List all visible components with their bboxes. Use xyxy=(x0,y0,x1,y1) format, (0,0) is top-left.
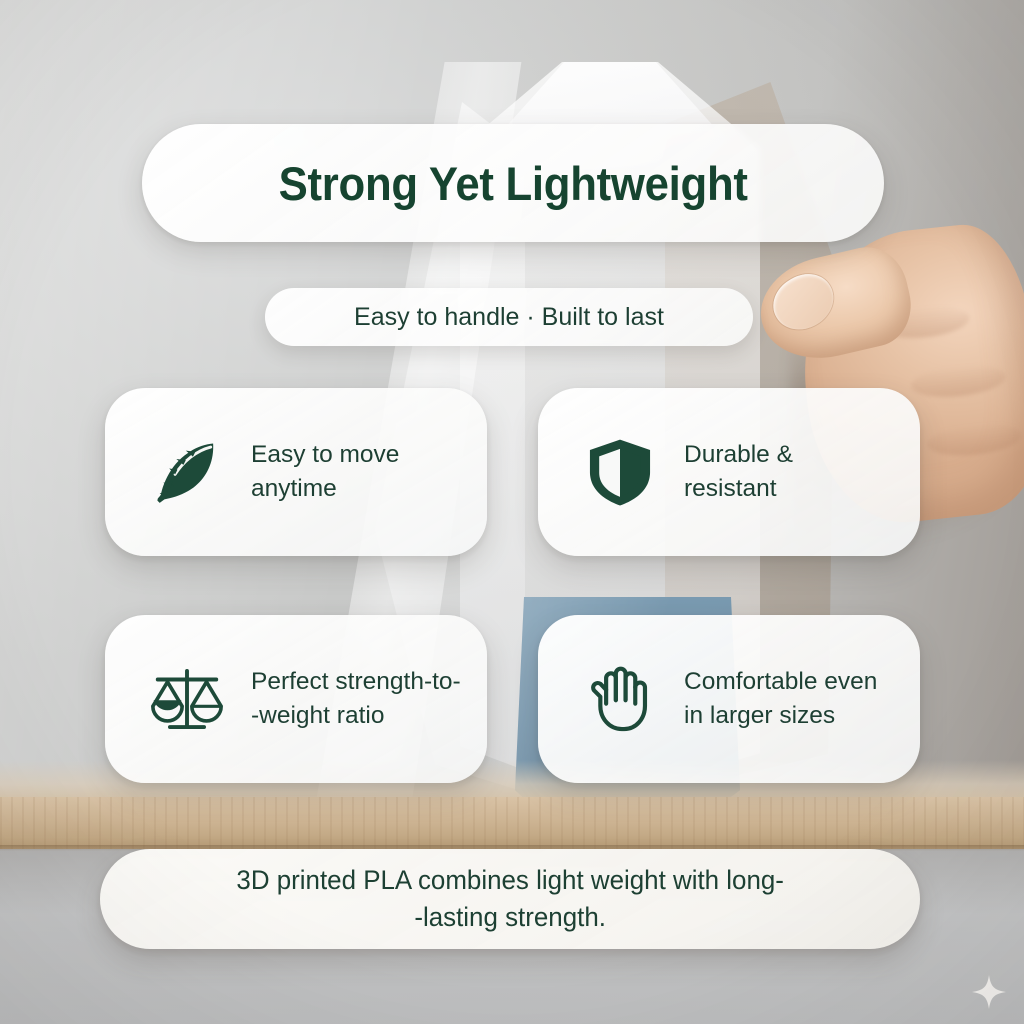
feature-card-comfortable[interactable]: Comfortable evenin larger sizes xyxy=(538,615,920,783)
feature-card-easy-to-move[interactable]: Easy to moveanytime xyxy=(105,388,487,556)
feather-icon xyxy=(145,430,229,514)
feature-label: Easy to moveanytime xyxy=(251,438,399,506)
feature-card-durable[interactable]: Durable &resistant xyxy=(538,388,920,556)
scales-icon xyxy=(145,657,229,741)
feature-card-strength-to-weight[interactable]: Perfect strength-to--weight ratio xyxy=(105,615,487,783)
feature-label: Durable &resistant xyxy=(684,438,793,506)
sparkle-icon xyxy=(972,975,1006,1009)
shield-icon xyxy=(578,430,662,514)
title-banner: Strong Yet Lightweight xyxy=(142,124,884,242)
poster-canvas: Strong Yet Lightweight Easy to handle · … xyxy=(0,0,1024,1024)
page-subtitle: Easy to handle · Built to last xyxy=(354,303,664,332)
footer-banner: 3D printed PLA combines light weight wit… xyxy=(100,849,920,949)
feature-label: Comfortable evenin larger sizes xyxy=(684,665,877,733)
hand-knuckle xyxy=(926,420,1024,460)
hand-knuckle xyxy=(910,361,1008,401)
thumbnail xyxy=(764,264,844,341)
subtitle-banner: Easy to handle · Built to last xyxy=(265,288,753,346)
hand-icon xyxy=(578,657,662,741)
wooden-shelf xyxy=(0,797,1024,849)
page-title: Strong Yet Lightweight xyxy=(278,156,747,211)
footer-text: 3D printed PLA combines light weight wit… xyxy=(236,862,784,937)
feature-label: Perfect strength-to--weight ratio xyxy=(251,665,461,733)
